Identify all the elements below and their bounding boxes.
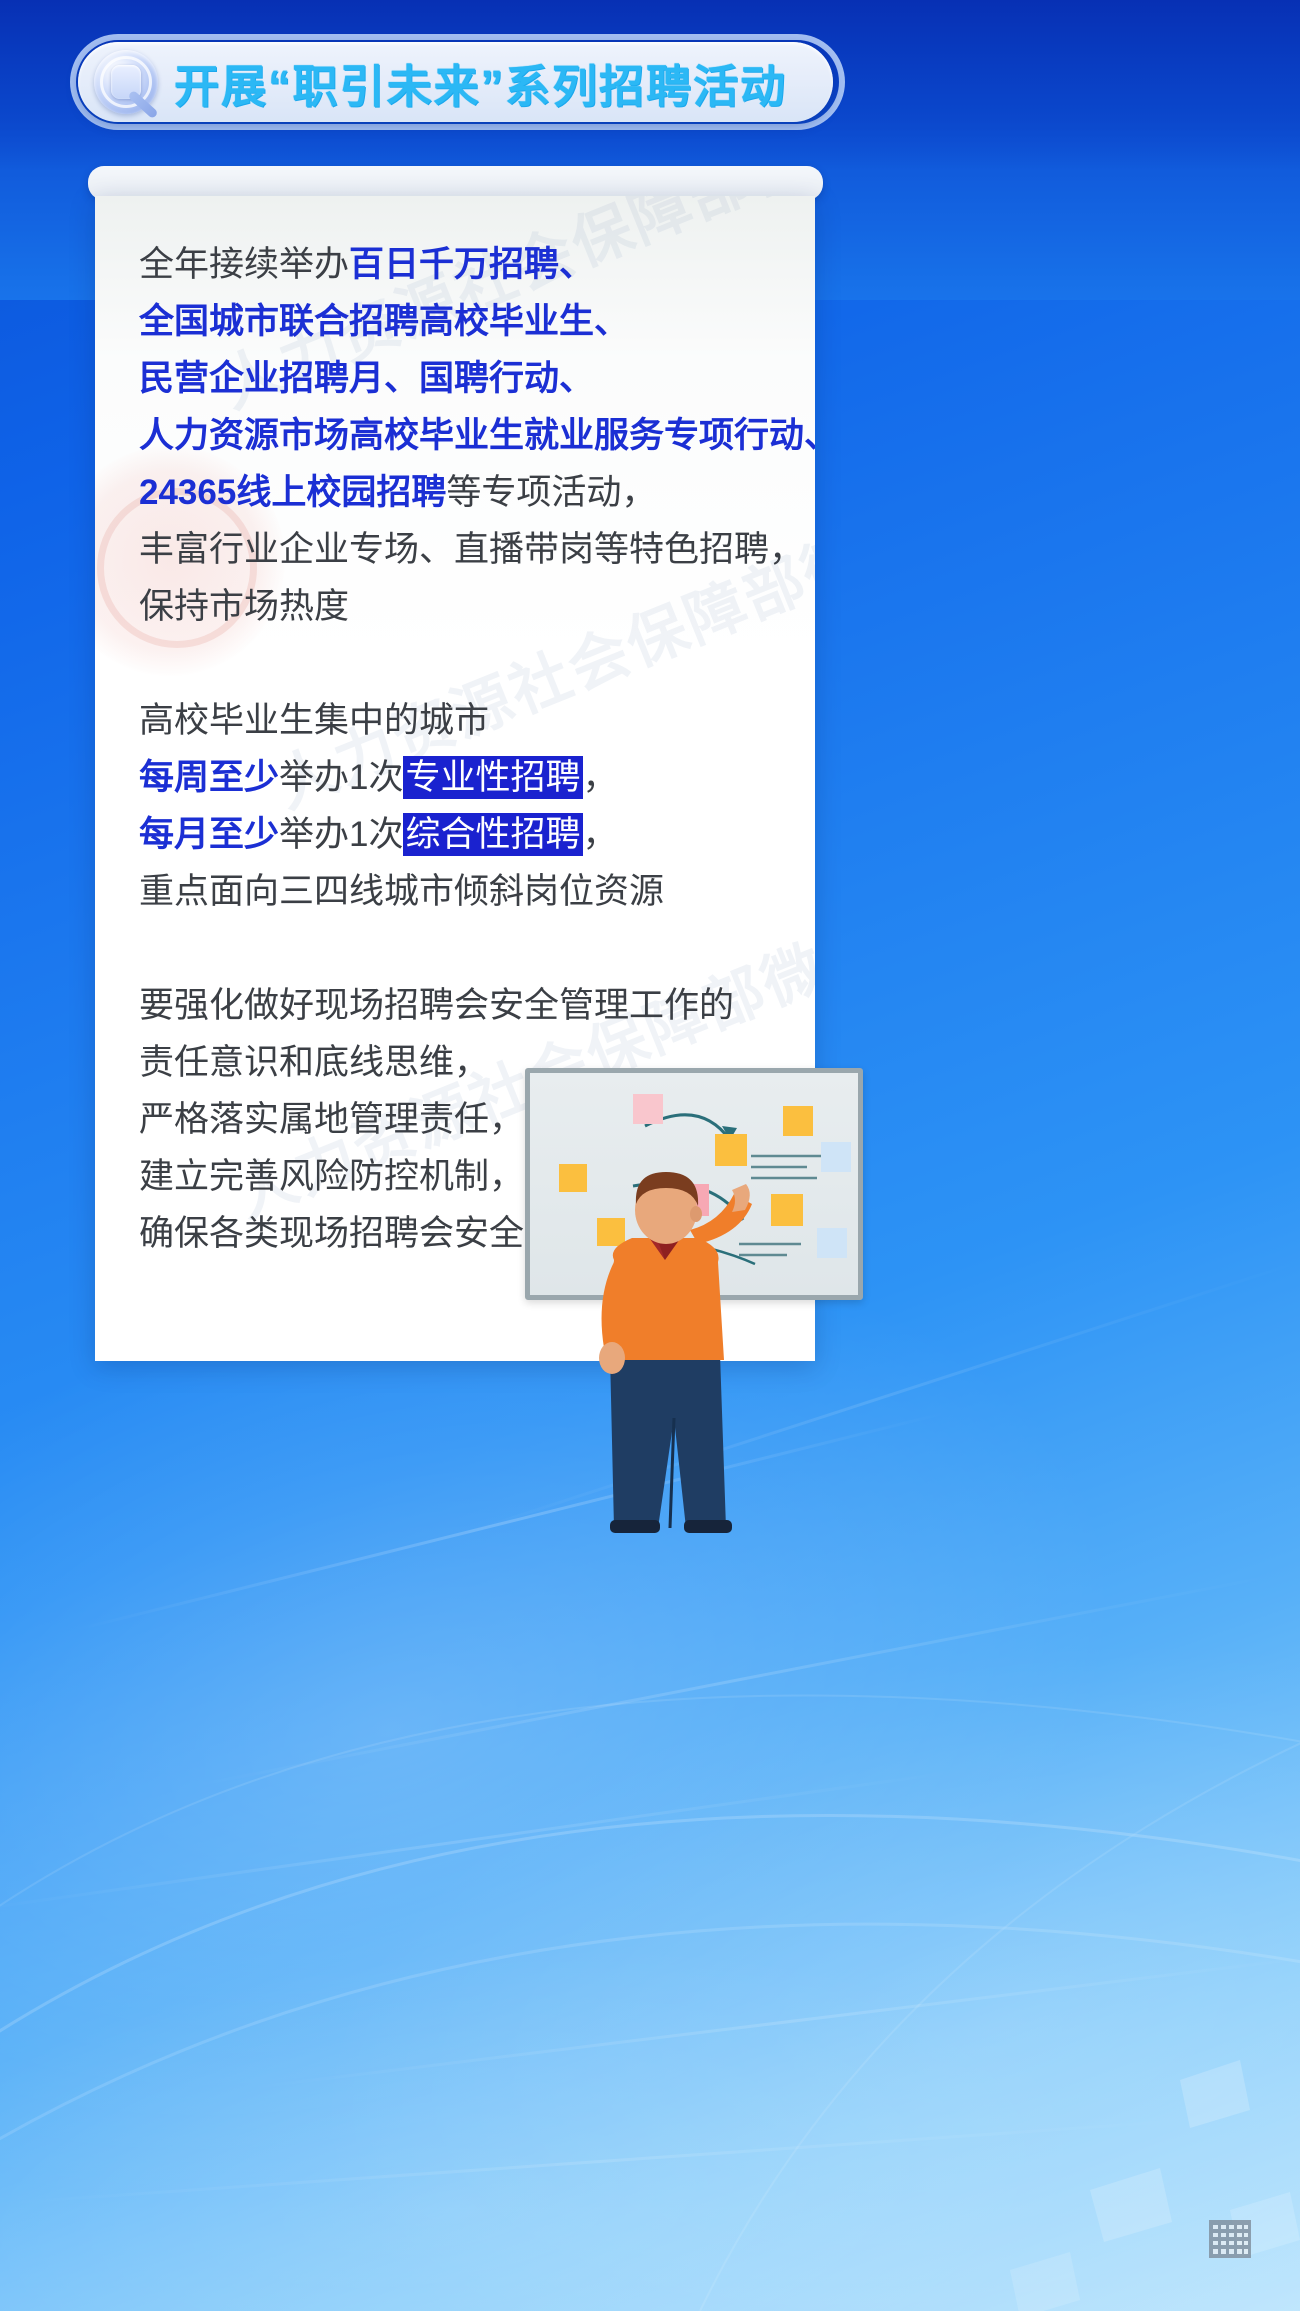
- text-run-normal: 确保各类现场招聘会安全: [139, 1214, 524, 1253]
- text-run-blue: 人力资源市场高校毕业生就业服务专项行动: [139, 416, 804, 455]
- text-run-blue: 每月至少: [139, 815, 279, 854]
- text-run-normal: 责任意识和底线思维，: [139, 1043, 489, 1082]
- text-run-blue: 每周至少: [139, 758, 279, 797]
- building-grid-icon: [1208, 2219, 1252, 2259]
- text-line: 人力资源市场高校毕业生就业服务专项行动、: [139, 407, 799, 464]
- text-run-highlight: 综合性招聘: [403, 813, 582, 856]
- text-line: 重点面向三四线城市倾斜岗位资源: [139, 863, 799, 920]
- text-run-normal: 等专项活动，: [446, 473, 656, 512]
- text-run-normal: 建立完善风险防控机制，: [139, 1157, 524, 1196]
- paragraph-gap: [139, 920, 799, 977]
- paragraph-gap: [139, 635, 799, 692]
- man-at-whiteboard-illustration: [525, 1068, 865, 1533]
- text-run-normal: 全年接续举办: [139, 245, 349, 284]
- text-run-blue: 国聘行动: [419, 359, 559, 398]
- text-run-normal: 严格落实属地管理责任，: [139, 1100, 524, 1139]
- text-line: 全年接续举办百日千万招聘、: [139, 236, 799, 293]
- text-run-normal: ，: [583, 758, 618, 797]
- text-line: 保持市场热度: [139, 578, 799, 635]
- text-run-blue: 、: [559, 359, 594, 398]
- text-line: 24365线上校园招聘等专项活动，: [139, 464, 799, 521]
- text-run-blue: 、: [594, 302, 629, 341]
- text-run-normal: 保持市场热度: [139, 587, 349, 626]
- text-line: 高校毕业生集中的城市: [139, 692, 799, 749]
- text-line: 丰富行业企业专场、直播带岗等特色招聘，: [139, 521, 799, 578]
- text-run-blue: 全国城市联合招聘高校毕业生: [139, 302, 594, 341]
- text-run-normal: 要强化做好现场招聘会安全管理工作的: [139, 986, 734, 1025]
- text-run-blue: 、: [384, 359, 419, 398]
- text-run-blue: 、: [804, 416, 815, 455]
- card-top-bar: [88, 166, 823, 200]
- page-title: 开展“职引未来”系列招聘活动: [174, 50, 787, 115]
- text-run-normal: 丰富行业企业专场、直播带岗等特色招聘，: [139, 530, 804, 569]
- text-line: 每月至少举办1次综合性招聘，: [139, 806, 799, 863]
- person-writing: [570, 1168, 760, 1533]
- text-run-blue: 民营企业招聘月: [139, 359, 384, 398]
- title-banner: 开展“职引未来”系列招聘活动: [78, 42, 833, 122]
- text-line: 每周至少举办1次专业性招聘，: [139, 749, 799, 806]
- text-run-normal: 举办1次: [279, 758, 403, 797]
- text-line: 全国城市联合招聘高校毕业生、: [139, 293, 799, 350]
- text-run-normal: 举办1次: [279, 815, 403, 854]
- text-line: 要强化做好现场招聘会安全管理工作的: [139, 977, 799, 1034]
- text-run-normal: 重点面向三四线城市倾斜岗位资源: [139, 872, 664, 911]
- text-run-blue: 24365线上校园招聘: [139, 473, 446, 512]
- text-line: 民营企业招聘月、国聘行动、: [139, 350, 799, 407]
- text-run-blue: 百日千万招聘: [349, 245, 559, 284]
- text-run-highlight: 专业性招聘: [403, 756, 582, 799]
- text-run-blue: 、: [559, 245, 594, 284]
- text-run-normal: 高校毕业生集中的城市: [139, 701, 489, 740]
- text-run-normal: ，: [583, 815, 618, 854]
